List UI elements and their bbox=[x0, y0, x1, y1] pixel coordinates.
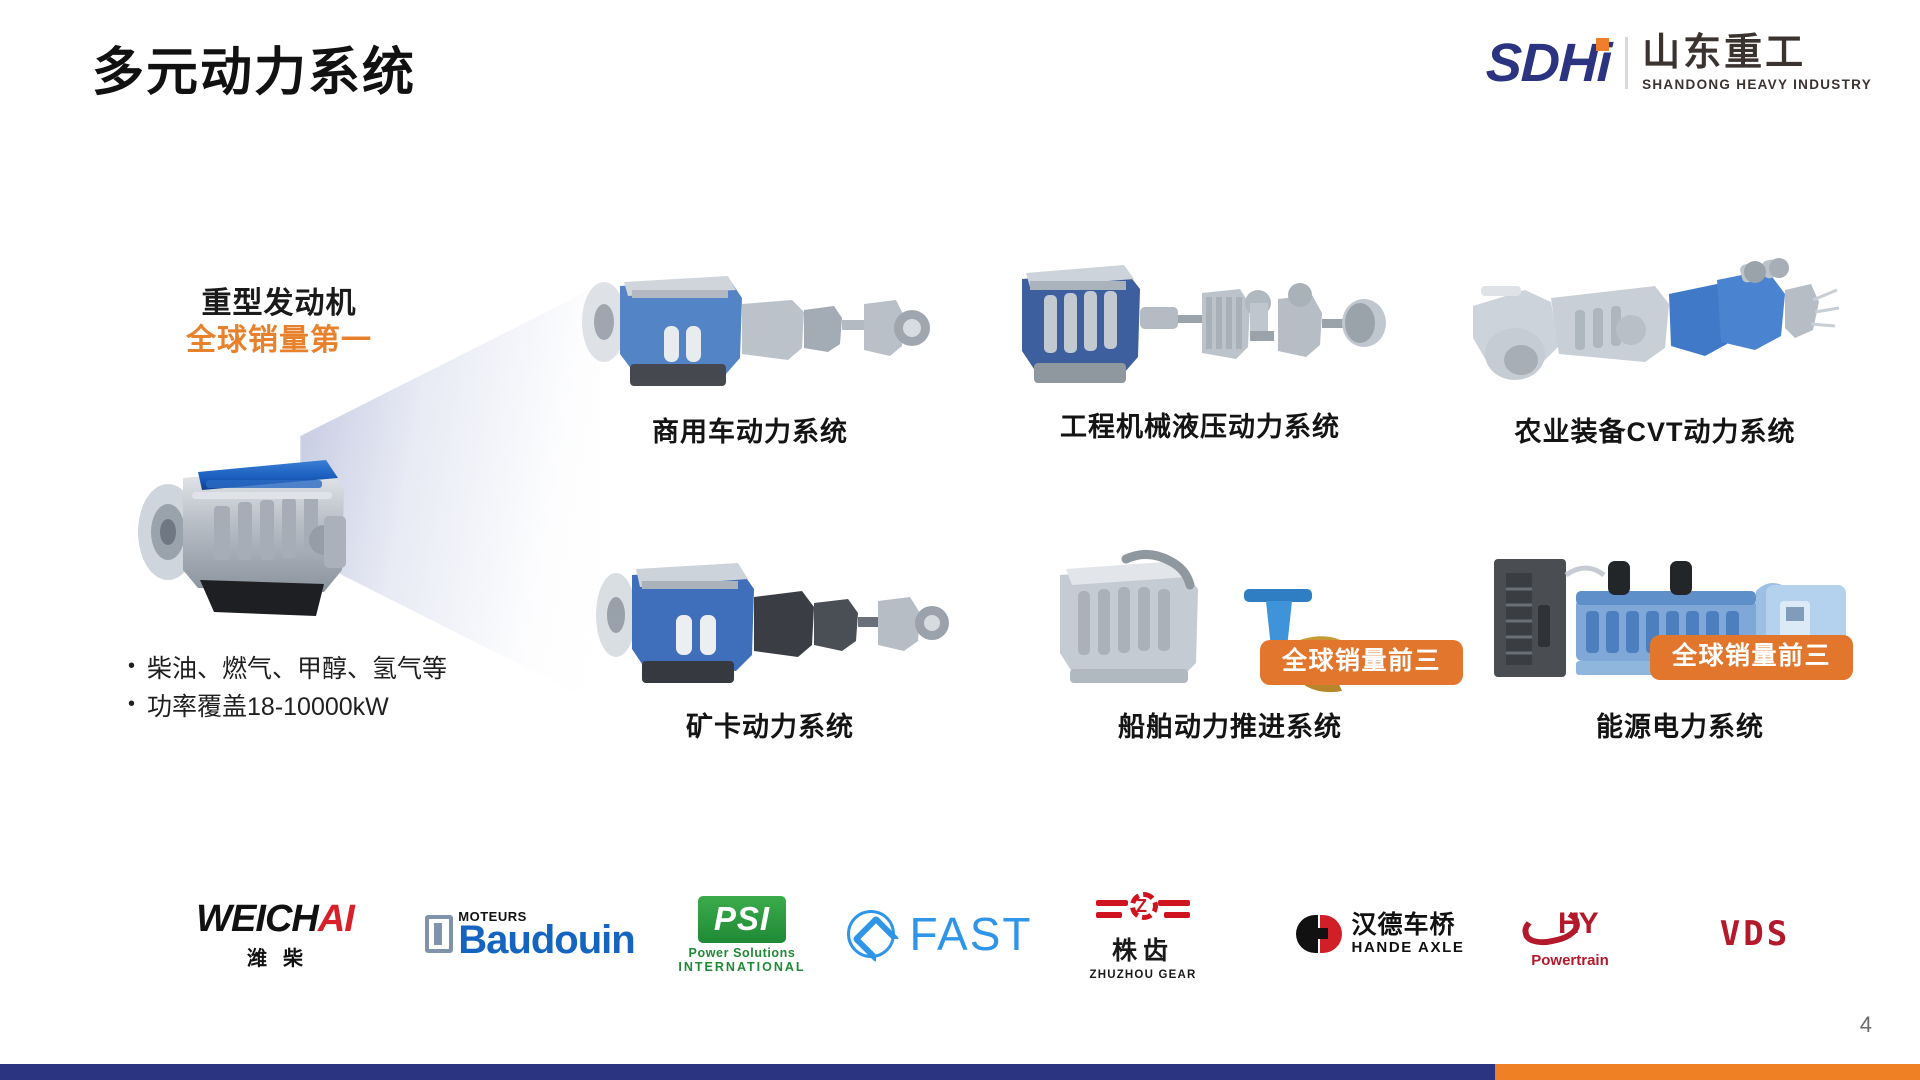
construction-hydraulic-powertrain-image bbox=[1000, 245, 1400, 395]
footer-bar-orange bbox=[1495, 1064, 1920, 1080]
product-label: 矿卡动力系统 bbox=[580, 705, 960, 744]
baudouin-text-main: Baudouin bbox=[458, 920, 634, 960]
hande-text-cn: 汉德车桥 bbox=[1352, 912, 1456, 938]
logo-chinese-name: 山东重工 bbox=[1642, 34, 1806, 74]
list-item: • 功率覆盖18-10000kW bbox=[128, 688, 447, 726]
product-card-marine-propulsion[interactable]: 全球销量前三 船舶动力推进系统 bbox=[1030, 545, 1430, 755]
mining-truck-powertrain-image bbox=[580, 545, 960, 695]
zhuzhou-wing-icon: Z bbox=[1096, 890, 1190, 930]
status-badge: 全球销量前三 bbox=[1650, 635, 1853, 680]
fast-swirl-icon bbox=[847, 910, 895, 958]
zhuzhou-text-cn: 株齿 bbox=[1112, 931, 1174, 967]
bullet-marker: • bbox=[128, 650, 135, 688]
brand-logo-psi: PSI Power Solutions INTERNATIONAL bbox=[672, 888, 812, 982]
fast-text-main: FAST bbox=[909, 907, 1032, 961]
bullet-marker: • bbox=[128, 688, 135, 726]
logo-divider bbox=[1625, 37, 1628, 89]
zhuzhou-mark-letter: Z bbox=[1136, 896, 1147, 917]
product-card-commercial-vehicle[interactable]: 商用车动力系统 bbox=[560, 250, 940, 450]
page-number: 4 bbox=[1860, 1012, 1872, 1038]
hero-bullet-list: • 柴油、燃气、甲醇、氢气等 • 功率覆盖18-10000kW bbox=[128, 650, 447, 726]
lhy-text-main: HY bbox=[1558, 907, 1598, 941]
baudouin-mark-icon bbox=[425, 915, 453, 953]
product-card-mining-truck[interactable]: 矿卡动力系统 bbox=[580, 545, 960, 755]
brand-logo-strip: WEICH AI 潍柴 MOTEURS Baudouin PSI Power S… bbox=[0, 880, 1920, 990]
product-card-energy-power[interactable]: 全球销量前三 能源电力系统 bbox=[1480, 545, 1880, 755]
brand-logo-lhy: HY Powertrain bbox=[1495, 892, 1645, 980]
product-label: 工程机械液压动力系统 bbox=[1000, 405, 1400, 444]
commercial-vehicle-powertrain-image bbox=[560, 250, 940, 395]
hero-headline: 重型发动机 全球销量第一 bbox=[186, 285, 372, 359]
logo-english-name: SHANDONG HEAVY INDUSTRY bbox=[1642, 77, 1872, 92]
brand-logo-zhuzhou-gear: Z 株齿 ZHUZHOU GEAR bbox=[1068, 886, 1218, 984]
bullet-text: 功率覆盖18-10000kW bbox=[147, 688, 389, 726]
psi-text-sub1: Power Solutions bbox=[689, 946, 796, 960]
weichai-text-cn: 潍柴 bbox=[231, 942, 319, 971]
product-label: 商用车动力系统 bbox=[560, 410, 940, 449]
sdhi-wordmark: SDHi bbox=[1486, 36, 1611, 90]
list-item: • 柴油、燃气、甲醇、氢气等 bbox=[128, 650, 447, 688]
product-label: 能源电力系统 bbox=[1480, 705, 1880, 744]
psi-text-sub2: INTERNATIONAL bbox=[678, 960, 805, 974]
agriculture-cvt-powertrain-image bbox=[1455, 250, 1855, 395]
weichai-text-accent: AI bbox=[318, 898, 354, 941]
brand-logo-hande-axle: 汉德车桥 HANDE AXLE bbox=[1255, 902, 1505, 966]
heavy-duty-engine-image bbox=[128, 420, 418, 650]
lhy-loop-icon: HY bbox=[1522, 904, 1618, 950]
brand-logo-baudouin: MOTEURS Baudouin bbox=[420, 902, 640, 966]
footer-bar bbox=[0, 1064, 1920, 1080]
product-card-agriculture-cvt[interactable]: 农业装备CVT动力系统 bbox=[1455, 250, 1855, 450]
sdhi-text: SDHi bbox=[1485, 36, 1612, 90]
brand-logo-fast: FAST bbox=[830, 902, 1050, 966]
company-logo: SDHi 山东重工 SHANDONG HEAVY INDUSTRY bbox=[1486, 32, 1872, 94]
product-card-construction-hydraulic[interactable]: 工程机械液压动力系统 bbox=[1000, 245, 1400, 450]
weichai-text-main: WEICH bbox=[196, 898, 318, 941]
footer-bar-navy bbox=[0, 1064, 1495, 1080]
product-label: 船舶动力推进系统 bbox=[1030, 705, 1430, 744]
brand-logo-weichai: WEICH AI 潍柴 bbox=[175, 888, 375, 980]
logo-chinese-block: 山东重工 SHANDONG HEAVY INDUSTRY bbox=[1642, 34, 1872, 92]
hero-headline-line2: 全球销量第一 bbox=[186, 322, 372, 359]
sdhi-dot-accent bbox=[1596, 38, 1609, 51]
hero-headline-line1: 重型发动机 bbox=[186, 285, 372, 322]
bullet-text: 柴油、燃气、甲醇、氢气等 bbox=[147, 650, 447, 688]
product-label: 农业装备CVT动力系统 bbox=[1455, 410, 1855, 449]
lhy-text-sub: Powertrain bbox=[1531, 952, 1609, 969]
slide: 多元动力系统 SDHi 山东重工 SHANDONG HEAVY INDUSTRY… bbox=[0, 0, 1920, 1080]
psi-text-main: PSI bbox=[714, 900, 770, 937]
brand-logo-vds: VDS bbox=[1680, 906, 1830, 962]
status-badge: 全球销量前三 bbox=[1260, 640, 1463, 685]
hande-text-en: HANDE AXLE bbox=[1352, 939, 1465, 956]
zhuzhou-text-en: ZHUZHOU GEAR bbox=[1089, 969, 1196, 981]
page-title: 多元动力系统 bbox=[92, 30, 416, 105]
hande-mark-icon bbox=[1296, 915, 1342, 953]
vds-text-main: VDS bbox=[1720, 914, 1790, 954]
